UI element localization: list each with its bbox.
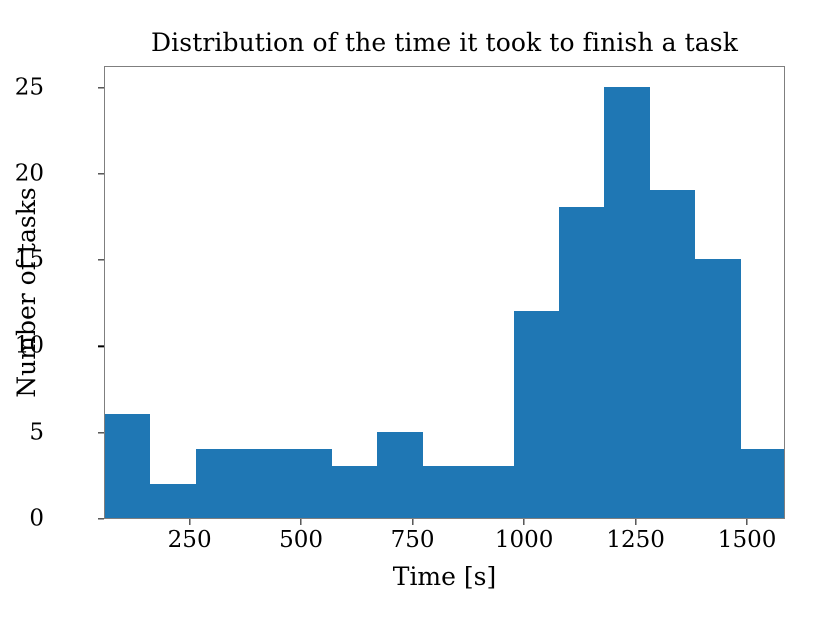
histogram-bar <box>287 449 332 518</box>
x-tick-mark <box>523 519 524 525</box>
histogram-bar <box>377 432 422 518</box>
histogram-bar <box>604 87 649 518</box>
y-tick-mark <box>98 173 104 174</box>
y-tick-label: 15 <box>15 249 44 272</box>
y-axis-label: Number of tasks <box>10 66 44 519</box>
y-tick-label: 5 <box>29 421 44 444</box>
x-tick-mark <box>412 519 413 525</box>
histogram-bar <box>332 466 377 518</box>
histogram-bar <box>695 259 740 518</box>
histogram-bar <box>196 449 241 518</box>
x-tick-label: 1000 <box>495 527 554 553</box>
y-tick-mark <box>98 518 104 519</box>
histogram-bar <box>650 190 695 518</box>
y-tick-label: 10 <box>15 335 44 358</box>
x-tick-label: 500 <box>279 527 323 553</box>
histogram-bar <box>741 449 786 518</box>
y-tick-mark <box>98 259 104 260</box>
x-tick-mark <box>189 519 190 525</box>
histogram-bar <box>241 449 286 518</box>
chart-title: Distribution of the time it took to fini… <box>104 28 785 58</box>
x-tick-label: 1500 <box>718 527 777 553</box>
x-tick-label: 750 <box>391 527 435 553</box>
y-tick-mark <box>98 346 104 347</box>
x-axis-label: Time [s] <box>104 562 785 592</box>
x-tick-label: 1250 <box>606 527 665 553</box>
histogram-bar <box>105 414 150 518</box>
y-tick-mark <box>98 87 104 88</box>
y-tick-mark <box>98 432 104 433</box>
y-tick-label: 20 <box>15 162 44 185</box>
x-tick-mark <box>746 519 747 525</box>
histogram-bar <box>468 466 513 518</box>
y-tick-label: 0 <box>29 508 44 531</box>
x-tick-mark <box>635 519 636 525</box>
y-tick-label: 25 <box>15 76 44 99</box>
histogram-bars <box>105 67 784 518</box>
histogram-bar <box>514 311 559 518</box>
histogram-bar <box>423 466 468 518</box>
x-tick-mark <box>300 519 301 525</box>
histogram-figure: Distribution of the time it took to fini… <box>0 0 830 623</box>
x-tick-label: 250 <box>168 527 212 553</box>
histogram-bar <box>559 207 604 518</box>
plot-area <box>104 66 785 519</box>
histogram-bar <box>150 484 195 519</box>
